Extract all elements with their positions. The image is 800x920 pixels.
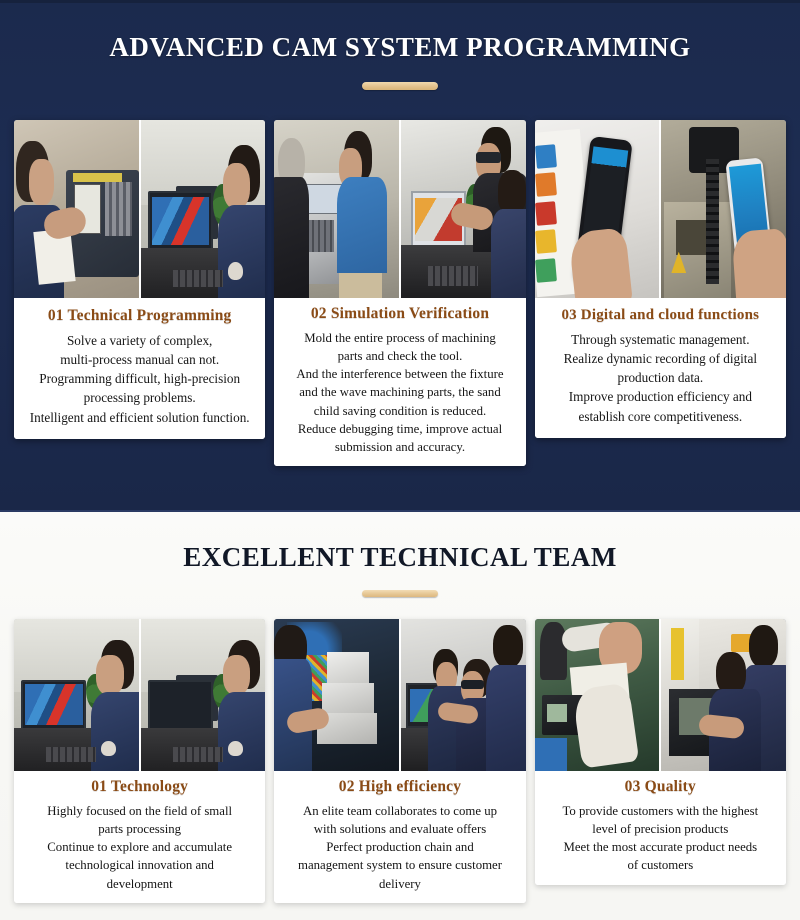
team-card-row: 01 Technology Highly focused on the fiel… (0, 619, 800, 903)
quality-inspection-station-photo (661, 619, 786, 771)
card-photo-strip (274, 120, 525, 298)
card-title: 02 High efficiency (281, 778, 518, 796)
card-title: 02 Simulation Verification (281, 305, 518, 323)
card-body: 01 Technology Highly focused on the fiel… (14, 771, 265, 903)
card-photo-strip (274, 619, 525, 771)
marketing-page: ADVANCED CAM SYSTEM PROGRAMMING (0, 0, 800, 920)
section-divider-gold (362, 82, 438, 90)
card-description: Solve a variety of complex, multi-proces… (22, 331, 257, 427)
card-photo-strip (535, 619, 786, 771)
card-body: 02 Simulation Verification Mold the enti… (274, 298, 525, 466)
card-description: To provide customers with the highest le… (542, 802, 779, 875)
card-title: 03 Quality (542, 778, 779, 796)
section-title-cam: ADVANCED CAM SYSTEM PROGRAMMING (0, 0, 800, 63)
card-description: An elite team collaborates to come up wi… (281, 802, 518, 893)
gloved-hand-digital-caliper-photo (535, 619, 660, 771)
card-photo-strip (535, 120, 786, 298)
card-technology[interactable]: 01 Technology Highly focused on the fiel… (14, 619, 265, 903)
card-simulation-verification[interactable]: 02 Simulation Verification Mold the enti… (274, 120, 525, 466)
cad-workstation-dual-monitor-photo (141, 120, 266, 298)
card-quality[interactable]: 03 Quality To provide customers with the… (535, 619, 786, 885)
technical-team-section: EXCELLENT TECHNICAL TEAM (0, 512, 800, 920)
team-discussing-at-workstation-photo (401, 619, 526, 771)
phone-monitoring-machine-cloud-photo (661, 120, 786, 298)
cnc-operator-control-panel-photo (14, 120, 139, 298)
card-description: Mold the entire process of machining par… (281, 329, 518, 456)
card-high-efficiency[interactable]: 02 High efficiency An elite team collabo… (274, 619, 525, 903)
hand-holding-phone-dashboard-app-photo (535, 120, 660, 298)
card-description: Highly focused on the field of small par… (21, 802, 258, 893)
card-photo-strip (14, 619, 265, 771)
colleagues-reviewing-laptop-cad-photo (401, 120, 526, 298)
card-technical-programming[interactable]: 01 Technical Programming Solve a variety… (14, 120, 265, 439)
cam-system-section: ADVANCED CAM SYSTEM PROGRAMMING (0, 0, 800, 512)
card-body: 01 Technical Programming Solve a variety… (14, 298, 265, 439)
card-digital-cloud-functions[interactable]: 03 Digital and cloud functions Through s… (535, 120, 786, 438)
engineer-at-cad-monitor-photo (14, 619, 139, 771)
technician-assembling-fixtures-photo (274, 619, 399, 771)
section-divider-gold-light (362, 590, 438, 597)
card-body: 03 Digital and cloud functions Through s… (535, 298, 786, 438)
card-title: 01 Technical Programming (22, 307, 257, 325)
card-body: 02 High efficiency An elite team collabo… (274, 771, 525, 903)
cam-card-row: 01 Technical Programming Solve a variety… (0, 120, 800, 466)
card-title: 03 Digital and cloud functions (543, 307, 778, 324)
two-engineers-at-cnc-machine-photo (274, 120, 399, 298)
card-description: Through systematic management. Realize d… (543, 330, 778, 426)
card-title: 01 Technology (21, 778, 258, 796)
section-title-team: EXCELLENT TECHNICAL TEAM (0, 512, 800, 573)
card-photo-strip (14, 120, 265, 298)
card-body: 03 Quality To provide customers with the… (535, 771, 786, 885)
engineer-modeling-on-desktop-photo (141, 619, 266, 771)
